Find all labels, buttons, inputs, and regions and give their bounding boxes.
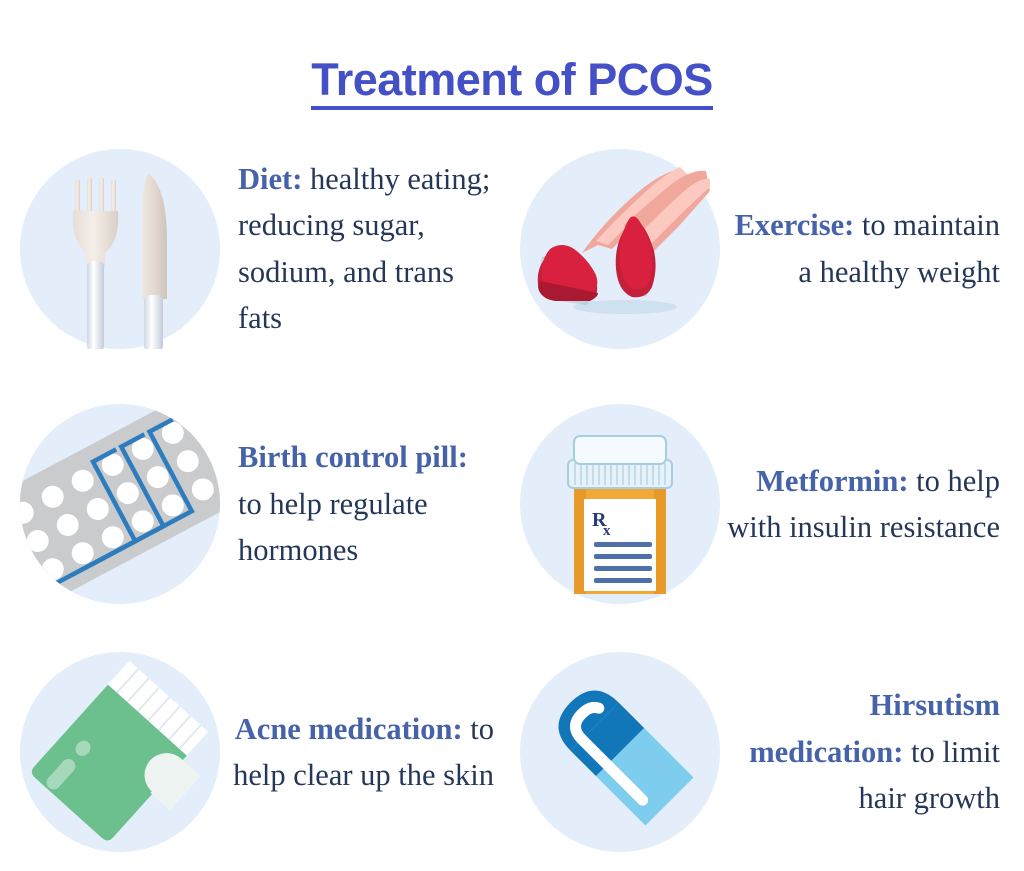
infographic-page: Treatment of PCOS [0, 0, 1024, 871]
caption-lead: Metformin: [756, 464, 908, 498]
caption-exercise: Exercise: to maintain a healthy weight [720, 202, 1002, 295]
treatment-item-birth-control-pill: Birth control pill: to help regulate hor… [0, 375, 512, 633]
caption-diet: Diet: healthy eating; reducing sugar, so… [220, 156, 504, 341]
icon-container-birth-control-pill [20, 404, 220, 604]
capsule-icon [520, 652, 720, 852]
prescription-bottle-icon: R x [520, 404, 720, 604]
caption-body: to help regulate hormones [238, 487, 428, 567]
caption-lead: Acne medication: [235, 712, 463, 746]
title-container: Treatment of PCOS [0, 0, 1024, 141]
caption-metformin: Metformin: to help with insulin resistan… [720, 458, 1002, 551]
caption-lead: Diet: [238, 162, 302, 196]
rx-label-x: x [603, 523, 611, 539]
treatment-item-acne-medication: Acne medication: to help clear up the sk… [0, 633, 512, 871]
fork-and-knife-icon [20, 149, 220, 349]
treatment-item-hirsutism-medication: Hirsutism medication: to limit hair grow… [512, 633, 1024, 871]
icon-container-metformin: R x [520, 404, 720, 604]
caption-birth-control-pill: Birth control pill: to help regulate hor… [220, 434, 504, 573]
caption-hirsutism-medication: Hirsutism medication: to limit hair grow… [720, 682, 1002, 821]
treatment-grid: Diet: healthy eating; reducing sugar, so… [0, 122, 1024, 871]
caption-lead: Birth control pill: [238, 440, 468, 474]
treatment-item-exercise: Exercise: to maintain a healthy weight [512, 122, 1024, 375]
pill-blister-pack-icon [20, 404, 220, 604]
cream-tube-icon [20, 652, 220, 852]
caption-lead: Exercise: [735, 208, 855, 242]
page-title: Treatment of PCOS [311, 56, 713, 110]
icon-container-hirsutism-medication [520, 652, 720, 852]
treatment-item-metformin: R x [512, 375, 1024, 633]
treatment-item-diet: Diet: healthy eating; reducing sugar, so… [0, 122, 512, 375]
icon-container-diet [20, 149, 220, 349]
running-legs-icon [520, 149, 720, 349]
icon-container-acne-medication [20, 652, 220, 852]
icon-container-exercise [520, 149, 720, 349]
caption-acne-medication: Acne medication: to help clear up the sk… [220, 706, 504, 799]
